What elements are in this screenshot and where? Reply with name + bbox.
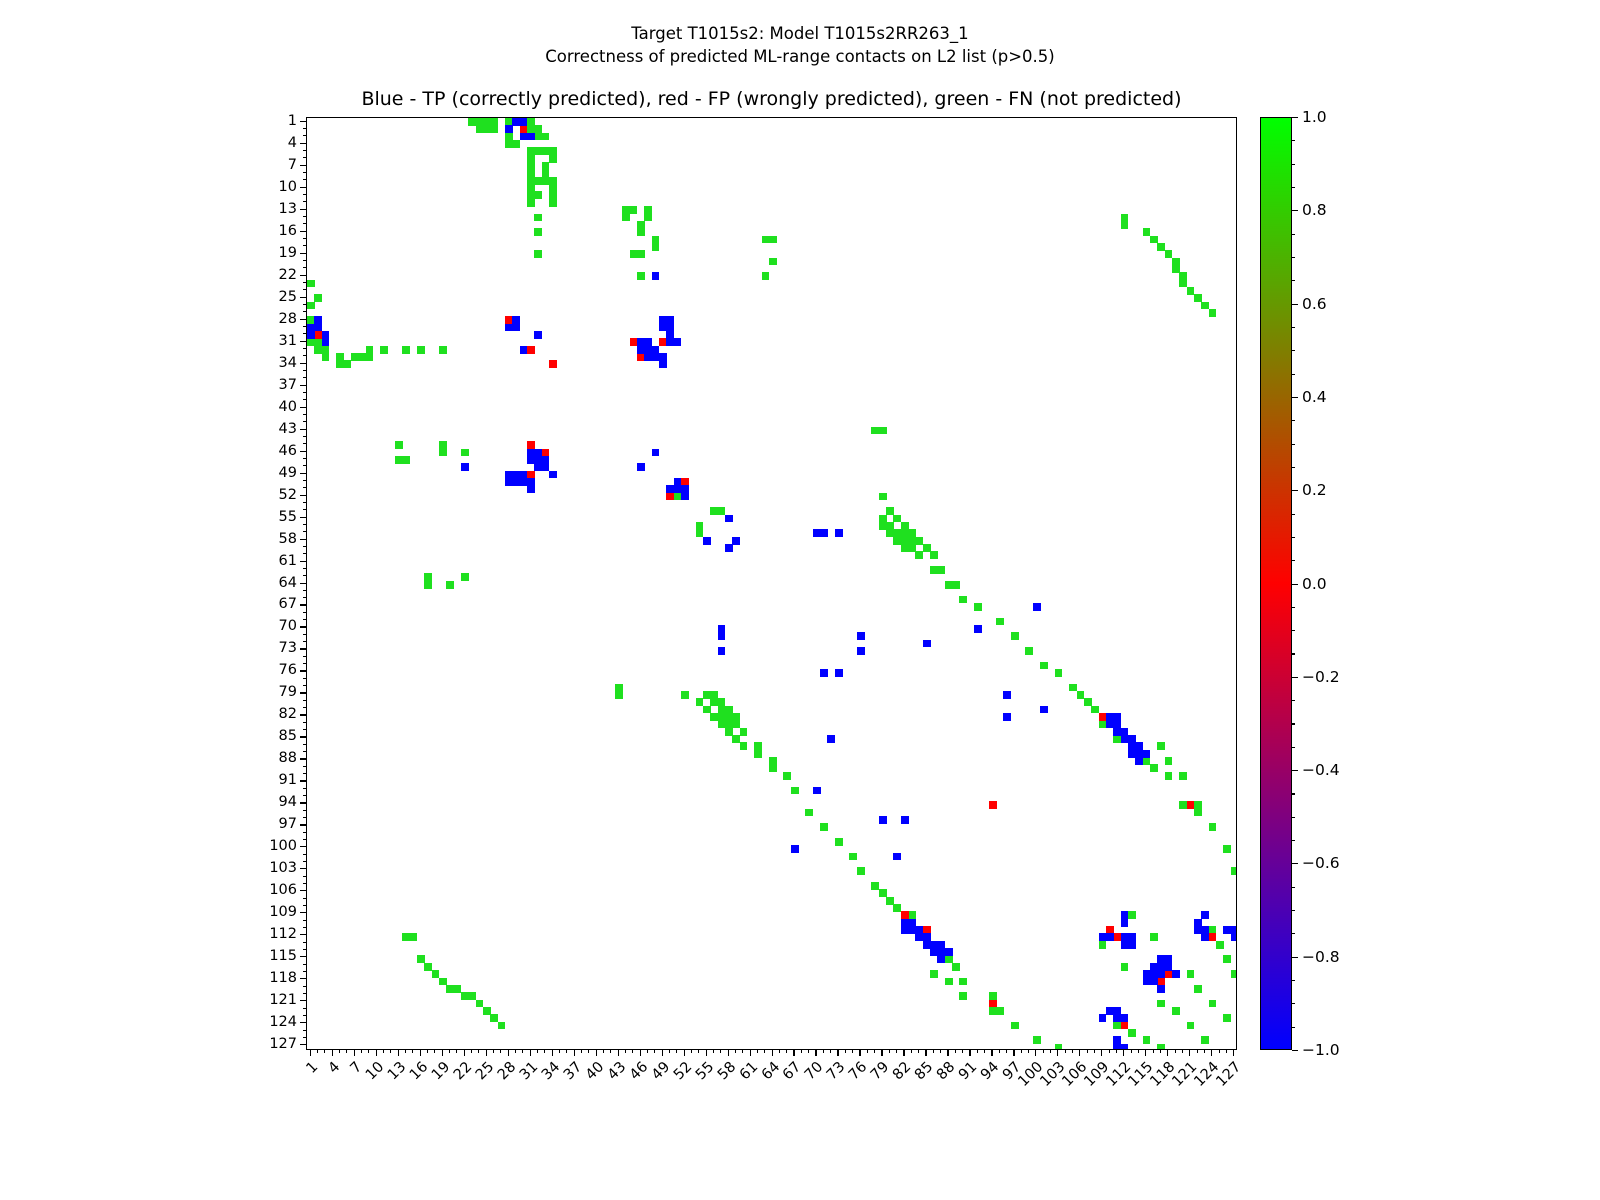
y-tick — [303, 568, 306, 569]
colorbar-tick-label: −0.4 — [1302, 761, 1340, 779]
x-tick — [1116, 1050, 1117, 1053]
y-axis-label: 115 — [269, 948, 297, 964]
x-tick — [984, 1050, 985, 1053]
contact-cell-fn — [402, 346, 410, 354]
contact-cell-fn — [1223, 845, 1231, 853]
y-tick — [303, 348, 306, 349]
contact-cell-fn — [1150, 764, 1158, 772]
y-tick — [300, 231, 306, 232]
colorbar-minor-tick — [1292, 1003, 1295, 1004]
y-axis-label: 103 — [269, 860, 297, 876]
y-tick — [300, 670, 306, 671]
contact-cell-fn — [989, 1007, 997, 1015]
contact-cell-fn — [1143, 1036, 1151, 1044]
contact-cell-tp — [820, 529, 828, 537]
x-tick — [837, 1050, 838, 1056]
x-tick — [1189, 1050, 1190, 1056]
x-tick — [867, 1050, 868, 1053]
y-tick — [300, 846, 306, 847]
contact-cell-tp — [1040, 706, 1048, 714]
y-tick — [300, 1000, 306, 1001]
contact-cell-fn — [432, 970, 440, 978]
x-tick — [1006, 1050, 1007, 1053]
colorbar-tick — [1292, 397, 1298, 398]
contact-cell-tp — [527, 133, 535, 141]
contact-cell-fn — [849, 853, 857, 861]
axes-legend-title: Blue - TP (correctly predicted), red - F… — [306, 88, 1237, 110]
y-axis-label: 46 — [279, 443, 297, 459]
contact-cell-fn — [1231, 867, 1237, 875]
colorbar-minor-tick — [1292, 280, 1295, 281]
y-tick — [303, 414, 306, 415]
contact-cell-tp — [1157, 985, 1165, 993]
x-tick — [1109, 1050, 1110, 1053]
y-tick — [303, 436, 306, 437]
contact-cell-tp — [1003, 713, 1011, 721]
y-axis-label: 70 — [279, 618, 297, 634]
contact-cell-tp — [820, 669, 828, 677]
colorbar-tick — [1292, 117, 1298, 118]
contact-cell-fn — [1165, 772, 1173, 780]
x-tick — [962, 1050, 963, 1053]
contact-cell-tp — [827, 735, 835, 743]
y-tick — [303, 128, 306, 129]
x-tick — [1043, 1050, 1044, 1053]
colorbar-minor-tick — [1292, 653, 1295, 654]
colorbar-tick — [1292, 210, 1298, 211]
y-tick — [303, 392, 306, 393]
y-tick — [300, 121, 306, 122]
contact-cell-fn — [937, 566, 945, 574]
y-axis-label: 49 — [279, 465, 297, 481]
y-tick — [303, 458, 306, 459]
x-tick — [918, 1050, 919, 1053]
contact-cell-fn — [549, 155, 557, 163]
colorbar-tick-label: −1.0 — [1302, 1041, 1340, 1059]
contact-cell-tp — [1172, 970, 1180, 978]
contact-cell-fn — [549, 199, 557, 207]
y-tick — [303, 964, 306, 965]
y-tick — [300, 956, 306, 957]
y-tick — [300, 275, 306, 276]
y-tick — [303, 1037, 306, 1038]
y-tick — [303, 773, 306, 774]
y-tick — [303, 942, 306, 943]
contact-cell-fn — [740, 742, 748, 750]
x-tick — [852, 1050, 853, 1053]
y-tick — [303, 524, 306, 525]
y-tick — [300, 363, 306, 364]
y-tick — [303, 326, 306, 327]
y-axis-label: 64 — [279, 575, 297, 591]
contact-cell-tp — [791, 845, 799, 853]
contact-cell-fn — [468, 992, 476, 1000]
colorbar-minor-tick — [1292, 420, 1295, 421]
contact-cell-fn — [534, 214, 542, 222]
x-tick — [544, 1050, 545, 1053]
x-tick — [596, 1050, 597, 1056]
y-tick — [300, 978, 306, 979]
contact-cell-fn — [483, 1007, 491, 1015]
x-tick — [955, 1050, 956, 1053]
x-tick — [383, 1050, 384, 1053]
contact-cell-tp — [1201, 933, 1209, 941]
y-tick — [300, 604, 306, 605]
y-tick — [303, 421, 306, 422]
x-tick — [859, 1050, 860, 1056]
x-tick — [449, 1050, 450, 1053]
x-tick — [684, 1050, 685, 1056]
x-tick — [456, 1050, 457, 1053]
y-axis-label: 55 — [279, 509, 297, 525]
contact-cell-tp — [725, 544, 733, 552]
y-tick — [303, 634, 306, 635]
y-tick — [303, 678, 306, 679]
contact-cell-fn — [1121, 963, 1129, 971]
contact-cell-fn — [996, 618, 1004, 626]
x-tick — [881, 1050, 882, 1056]
y-tick — [300, 539, 306, 540]
contact-cell-fn — [783, 772, 791, 780]
contact-cell-fn — [1223, 1014, 1231, 1022]
y-tick — [303, 172, 306, 173]
y-axis-label: 43 — [279, 421, 297, 437]
contact-cell-fn — [512, 140, 520, 148]
y-tick — [303, 744, 306, 745]
colorbar-minor-tick — [1292, 793, 1295, 794]
contact-cell-fn — [490, 125, 498, 133]
y-tick — [303, 817, 306, 818]
contact-cell-fp — [666, 493, 674, 501]
contact-cell-tp — [520, 118, 528, 126]
x-tick — [676, 1050, 677, 1053]
y-tick — [303, 854, 306, 855]
contact-cell-fn — [930, 551, 938, 559]
contact-cell-fn — [1179, 772, 1187, 780]
contact-cell-fn — [1128, 911, 1136, 919]
contact-cell-fn — [439, 346, 447, 354]
contact-cell-fn — [307, 280, 315, 288]
y-tick — [303, 546, 306, 547]
y-axis-label: 16 — [279, 223, 297, 239]
contact-cell-fn — [637, 250, 645, 258]
x-tick — [1028, 1050, 1029, 1053]
contact-cell-fn — [1201, 1036, 1209, 1044]
y-tick — [303, 238, 306, 239]
y-axis-label: 25 — [279, 289, 297, 305]
contact-cell-fn — [424, 581, 432, 589]
contact-cell-fp — [989, 801, 997, 809]
y-tick — [300, 780, 306, 781]
contact-cell-fn — [1209, 1000, 1217, 1008]
y-tick — [300, 517, 306, 518]
y-tick — [300, 451, 306, 452]
contact-cell-tp — [725, 515, 733, 523]
y-axis-label: 28 — [279, 311, 297, 327]
x-tick — [603, 1050, 604, 1053]
contact-cell-fn — [652, 243, 660, 251]
x-tick — [728, 1050, 729, 1056]
y-tick — [303, 707, 306, 708]
contact-cell-tp — [1003, 691, 1011, 699]
y-axis-label: 52 — [279, 487, 297, 503]
contact-cell-fn — [820, 823, 828, 831]
colorbar-minor-tick — [1292, 817, 1295, 818]
x-tick — [368, 1050, 369, 1053]
y-tick — [300, 1022, 306, 1023]
x-tick — [947, 1050, 948, 1056]
y-tick — [303, 861, 306, 862]
contact-cell-tp — [718, 632, 726, 640]
contact-cell-fn — [857, 867, 865, 875]
contact-cell-fn — [762, 272, 770, 280]
x-tick — [815, 1050, 816, 1056]
colorbar-minor-tick — [1292, 560, 1295, 561]
y-axis-label: 67 — [279, 596, 297, 612]
y-tick — [303, 509, 306, 510]
colorbar-minor-tick — [1292, 140, 1295, 141]
y-tick — [303, 355, 306, 356]
contact-map-plot — [306, 117, 1237, 1050]
y-tick — [300, 912, 306, 913]
contact-cell-fn — [930, 970, 938, 978]
x-tick — [735, 1050, 736, 1053]
contact-cell-fn — [410, 933, 418, 941]
contact-cell-fn — [1157, 1044, 1165, 1050]
y-tick — [303, 898, 306, 899]
x-tick — [1204, 1050, 1205, 1053]
y-tick — [303, 876, 306, 877]
contact-cell-fn — [769, 764, 777, 772]
colorbar-minor-tick — [1292, 350, 1295, 351]
y-tick — [303, 135, 306, 136]
contact-cell-fn — [945, 978, 953, 986]
x-tick — [500, 1050, 501, 1053]
y-tick — [303, 832, 306, 833]
title-line-2: Correctness of predicted ML-range contac… — [0, 45, 1600, 68]
contact-cell-tp — [974, 625, 982, 633]
y-tick — [303, 223, 306, 224]
contact-cell-fn — [1011, 632, 1019, 640]
y-tick — [303, 245, 306, 246]
contact-cell-fn — [527, 199, 535, 207]
contact-cell-fn — [1223, 955, 1231, 963]
contact-cell-fn — [307, 302, 315, 310]
y-tick — [300, 473, 306, 474]
x-tick — [779, 1050, 780, 1053]
colorbar-minor-tick — [1292, 887, 1295, 888]
y-tick — [303, 590, 306, 591]
colorbar-tick-label: −0.8 — [1302, 948, 1340, 966]
x-tick — [1160, 1050, 1161, 1053]
title-line-1: Target T1015s2: Model T1015s2RR263_1 — [0, 22, 1600, 45]
contact-cell-fn — [1011, 1022, 1019, 1030]
x-tick — [999, 1050, 1000, 1053]
x-tick — [698, 1050, 699, 1053]
y-tick — [303, 216, 306, 217]
contact-cell-tp — [549, 471, 557, 479]
colorbar-minor-tick — [1292, 1027, 1295, 1028]
contact-cell-fn — [1216, 941, 1224, 949]
contact-cell-fn — [1121, 221, 1129, 229]
contact-cell-fn — [1033, 1036, 1041, 1044]
contact-cell-tp — [857, 632, 865, 640]
contact-cell-fn — [1040, 662, 1048, 670]
figure-root: Target T1015s2: Model T1015s2RR263_1 Cor… — [0, 0, 1600, 1200]
x-tick — [493, 1050, 494, 1053]
y-axis-label: 91 — [279, 772, 297, 788]
y-tick — [303, 788, 306, 789]
y-tick — [303, 311, 306, 312]
x-tick — [581, 1050, 582, 1053]
y-tick — [303, 619, 306, 620]
contact-cell-tp — [1099, 1014, 1107, 1022]
contact-cell-fn — [952, 963, 960, 971]
x-tick — [1079, 1050, 1080, 1056]
colorbar-minor-tick — [1292, 164, 1295, 165]
y-tick — [300, 626, 306, 627]
x-tick — [793, 1050, 794, 1056]
colorbar-minor-tick — [1292, 467, 1295, 468]
x-tick — [346, 1050, 347, 1053]
x-tick — [1197, 1050, 1198, 1053]
y-tick — [303, 1015, 306, 1016]
x-tick — [786, 1050, 787, 1053]
y-tick — [303, 729, 306, 730]
y-tick — [300, 253, 306, 254]
contact-cell-fn — [417, 346, 425, 354]
x-tick — [486, 1050, 487, 1056]
contact-cell-tp — [534, 331, 542, 339]
contact-cell-tp — [1033, 603, 1041, 611]
x-tick — [969, 1050, 970, 1056]
x-tick — [757, 1050, 758, 1053]
y-tick — [303, 663, 306, 664]
contact-cell-fn — [534, 191, 542, 199]
contact-cell-fn — [314, 294, 322, 302]
contact-cell-tp — [1231, 933, 1237, 941]
contact-cell-fn — [637, 228, 645, 236]
y-tick — [300, 385, 306, 386]
y-tick — [303, 157, 306, 158]
x-tick — [662, 1050, 663, 1056]
x-tick — [808, 1050, 809, 1053]
colorbar-minor-tick — [1292, 187, 1295, 188]
y-axis-label: 100 — [269, 838, 297, 854]
y-tick — [300, 1044, 306, 1045]
x-tick — [940, 1050, 941, 1053]
y-tick — [300, 407, 306, 408]
y-tick — [303, 766, 306, 767]
contact-cell-fn — [754, 750, 762, 758]
y-tick — [303, 700, 306, 701]
x-tick — [1065, 1050, 1066, 1053]
contact-cell-fn — [615, 691, 623, 699]
colorbar-minor-tick — [1292, 374, 1295, 375]
contact-cell-fn — [1157, 742, 1165, 750]
y-tick — [300, 495, 306, 496]
y-tick — [303, 685, 306, 686]
y-axis-label: 121 — [269, 992, 297, 1008]
x-tick — [530, 1050, 531, 1056]
y-tick — [303, 986, 306, 987]
y-tick — [300, 429, 306, 430]
y-tick — [303, 656, 306, 657]
y-tick — [303, 612, 306, 613]
colorbar-minor-tick — [1292, 537, 1295, 538]
contact-cell-fn — [740, 728, 748, 736]
y-tick — [303, 201, 306, 202]
x-tick — [471, 1050, 472, 1053]
contact-cell-tp — [1106, 933, 1114, 941]
x-tick — [361, 1050, 362, 1053]
y-tick — [300, 583, 306, 584]
x-tick — [398, 1050, 399, 1056]
y-tick — [300, 802, 306, 803]
y-tick — [300, 165, 306, 166]
colorbar-minor-tick — [1292, 700, 1295, 701]
y-tick — [300, 934, 306, 935]
y-axis-label: 97 — [279, 816, 297, 832]
contact-cell-fn — [959, 992, 967, 1000]
colorbar-minor-tick — [1292, 444, 1295, 445]
contact-cell-fn — [1150, 933, 1158, 941]
y-tick — [303, 377, 306, 378]
contact-cell-tp — [520, 346, 528, 354]
y-axis-label: 94 — [279, 794, 297, 810]
x-tick — [874, 1050, 875, 1053]
contact-cell-fn — [476, 125, 484, 133]
colorbar-tick — [1292, 957, 1298, 958]
x-tick — [420, 1050, 421, 1056]
y-axis-label: 73 — [279, 640, 297, 656]
colorbar — [1260, 117, 1292, 1050]
contact-cell-fn — [402, 456, 410, 464]
contact-cell-fn — [1128, 1029, 1136, 1037]
x-tick — [903, 1050, 904, 1056]
x-tick — [1131, 1050, 1132, 1053]
contact-cell-fn — [630, 206, 638, 214]
contact-cell-fn — [1055, 1044, 1063, 1050]
x-tick — [376, 1050, 377, 1056]
y-axis-label: 82 — [279, 706, 297, 722]
x-tick — [464, 1050, 465, 1056]
y-tick — [303, 905, 306, 906]
contact-cell-fn — [534, 228, 542, 236]
colorbar-tick — [1292, 584, 1298, 585]
x-tick — [310, 1050, 311, 1056]
y-axis-label: 127 — [269, 1036, 297, 1052]
contact-cell-tp — [681, 493, 689, 501]
y-tick — [303, 949, 306, 950]
x-tick — [647, 1050, 648, 1053]
y-tick — [300, 143, 306, 144]
contact-cell-tp — [637, 463, 645, 471]
x-tick — [764, 1050, 765, 1053]
y-tick — [303, 465, 306, 466]
y-tick — [303, 370, 306, 371]
contact-cell-fn — [366, 353, 374, 361]
x-tick — [522, 1050, 523, 1053]
colorbar-minor-tick — [1292, 234, 1295, 235]
contact-cell-fp — [1121, 1022, 1129, 1030]
y-tick — [303, 553, 306, 554]
x-tick — [332, 1050, 333, 1056]
x-tick — [706, 1050, 707, 1056]
x-tick — [925, 1050, 926, 1056]
colorbar-tick-label: 1.0 — [1302, 108, 1327, 126]
y-axis-label: 118 — [269, 970, 297, 986]
